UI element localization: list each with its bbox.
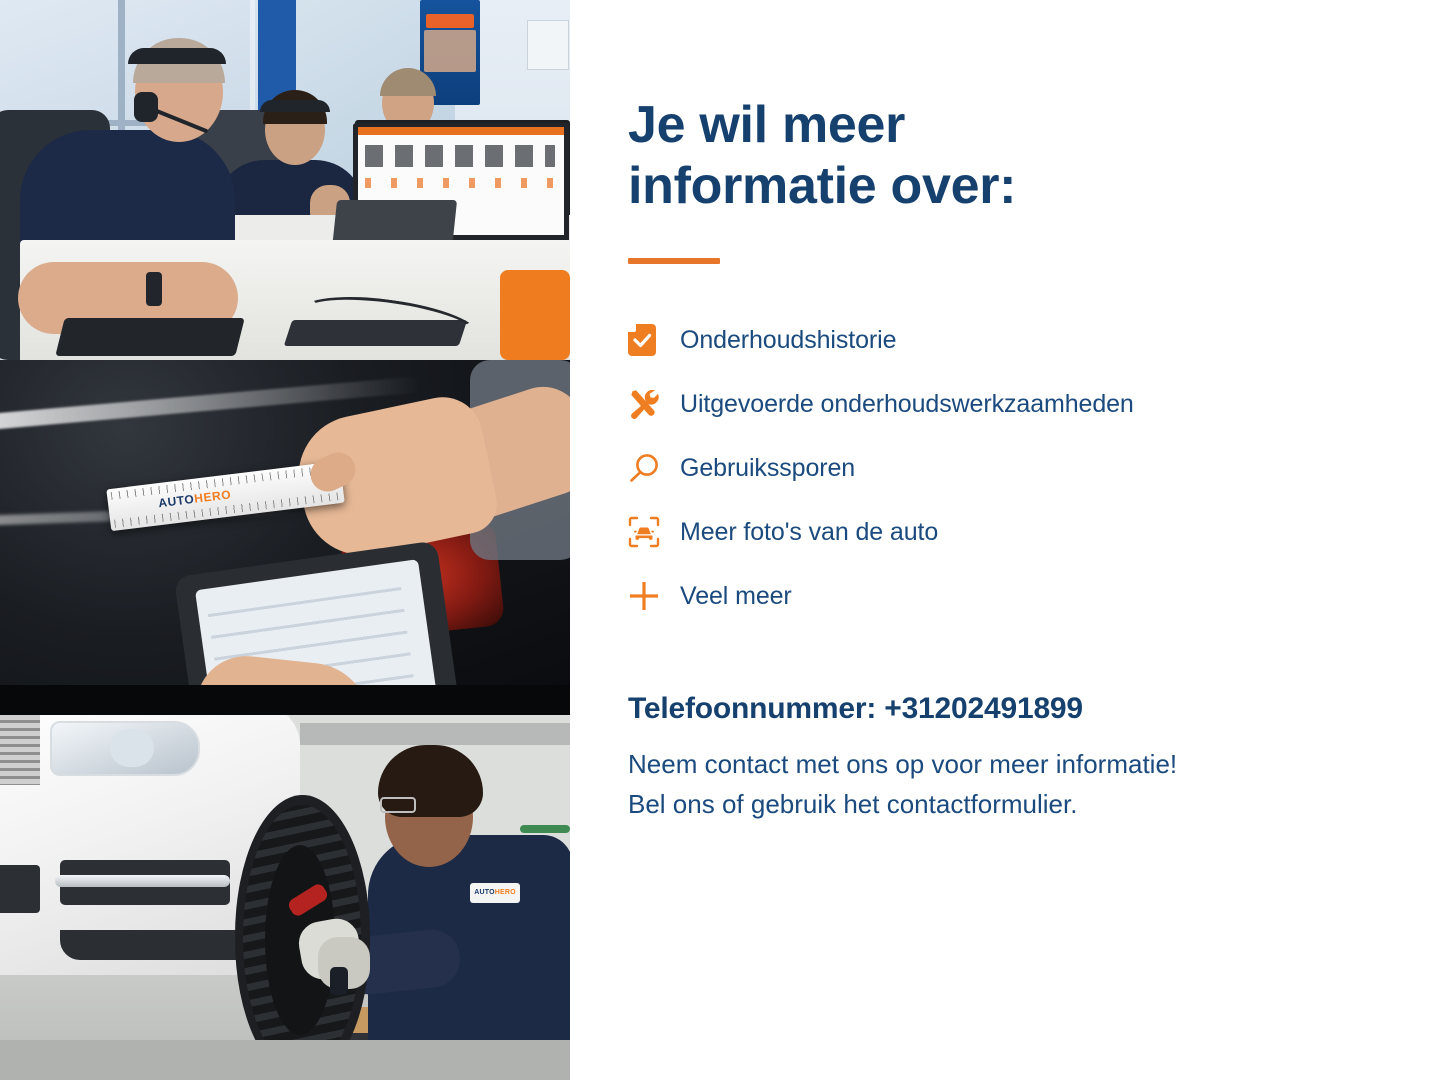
magnifier-icon [628, 453, 680, 484]
content-panel: Je wil meer informatie over: Onderhoudsh… [570, 0, 1440, 1080]
contact-instructions: Neem contact met ons op voor meer inform… [628, 744, 1368, 825]
call-center-agents-photo [0, 0, 570, 360]
document-check-icon [628, 324, 680, 356]
feature-item-maintenance-work: Uitgevoerde onderhoudswerkzaamheden [628, 372, 1368, 436]
feature-list: Onderhoudshistorie Uitgevoerde onderhoud… [628, 308, 1368, 628]
wrench-screwdriver-icon [628, 388, 680, 420]
feature-item-maintenance-history: Onderhoudshistorie [628, 308, 1368, 372]
autohero-polo-logo: AUTOHERO [470, 883, 520, 903]
feature-label: Gebruikssporen [680, 454, 855, 483]
phone-number[interactable]: Telefoonnummer: +31202491899 [628, 692, 1083, 726]
contact-line-1: Neem contact met ons op voor meer inform… [628, 749, 1177, 779]
page-title: Je wil meer informatie over: [628, 95, 1188, 218]
plus-icon [628, 580, 680, 612]
car-inspection-ruler-photo: AUTOHERO [0, 360, 570, 715]
polo-brand-hero: HERO [495, 889, 516, 896]
photo-column: AUTOHERO [0, 0, 570, 1080]
ruler-brand-auto: AUTO [158, 492, 196, 510]
mechanic-wheel-inspection-photo: AUTOHERO [0, 715, 570, 1080]
feature-label: Onderhoudshistorie [680, 326, 896, 355]
marketing-banner: AUTOHERO [0, 0, 1440, 1080]
feature-item-usage-traces: Gebruikssporen [628, 436, 1368, 500]
ruler-brand-hero: HERO [193, 487, 232, 505]
contact-line-2: Bel ons of gebruik het contactformulier. [628, 789, 1077, 819]
feature-label: Veel meer [680, 582, 792, 611]
title-divider [628, 258, 720, 264]
feature-item-much-more: Veel meer [628, 564, 1368, 628]
feature-label: Uitgevoerde onderhoudswerkzaamheden [680, 390, 1134, 419]
headline-line-2: informatie over: [628, 157, 1016, 215]
feature-item-more-photos: Meer foto's van de auto [628, 500, 1368, 564]
polo-brand-auto: AUTO [474, 889, 495, 896]
feature-label: Meer foto's van de auto [680, 518, 938, 547]
headline-line-1: Je wil meer [628, 96, 905, 154]
car-scan-icon [628, 516, 680, 548]
